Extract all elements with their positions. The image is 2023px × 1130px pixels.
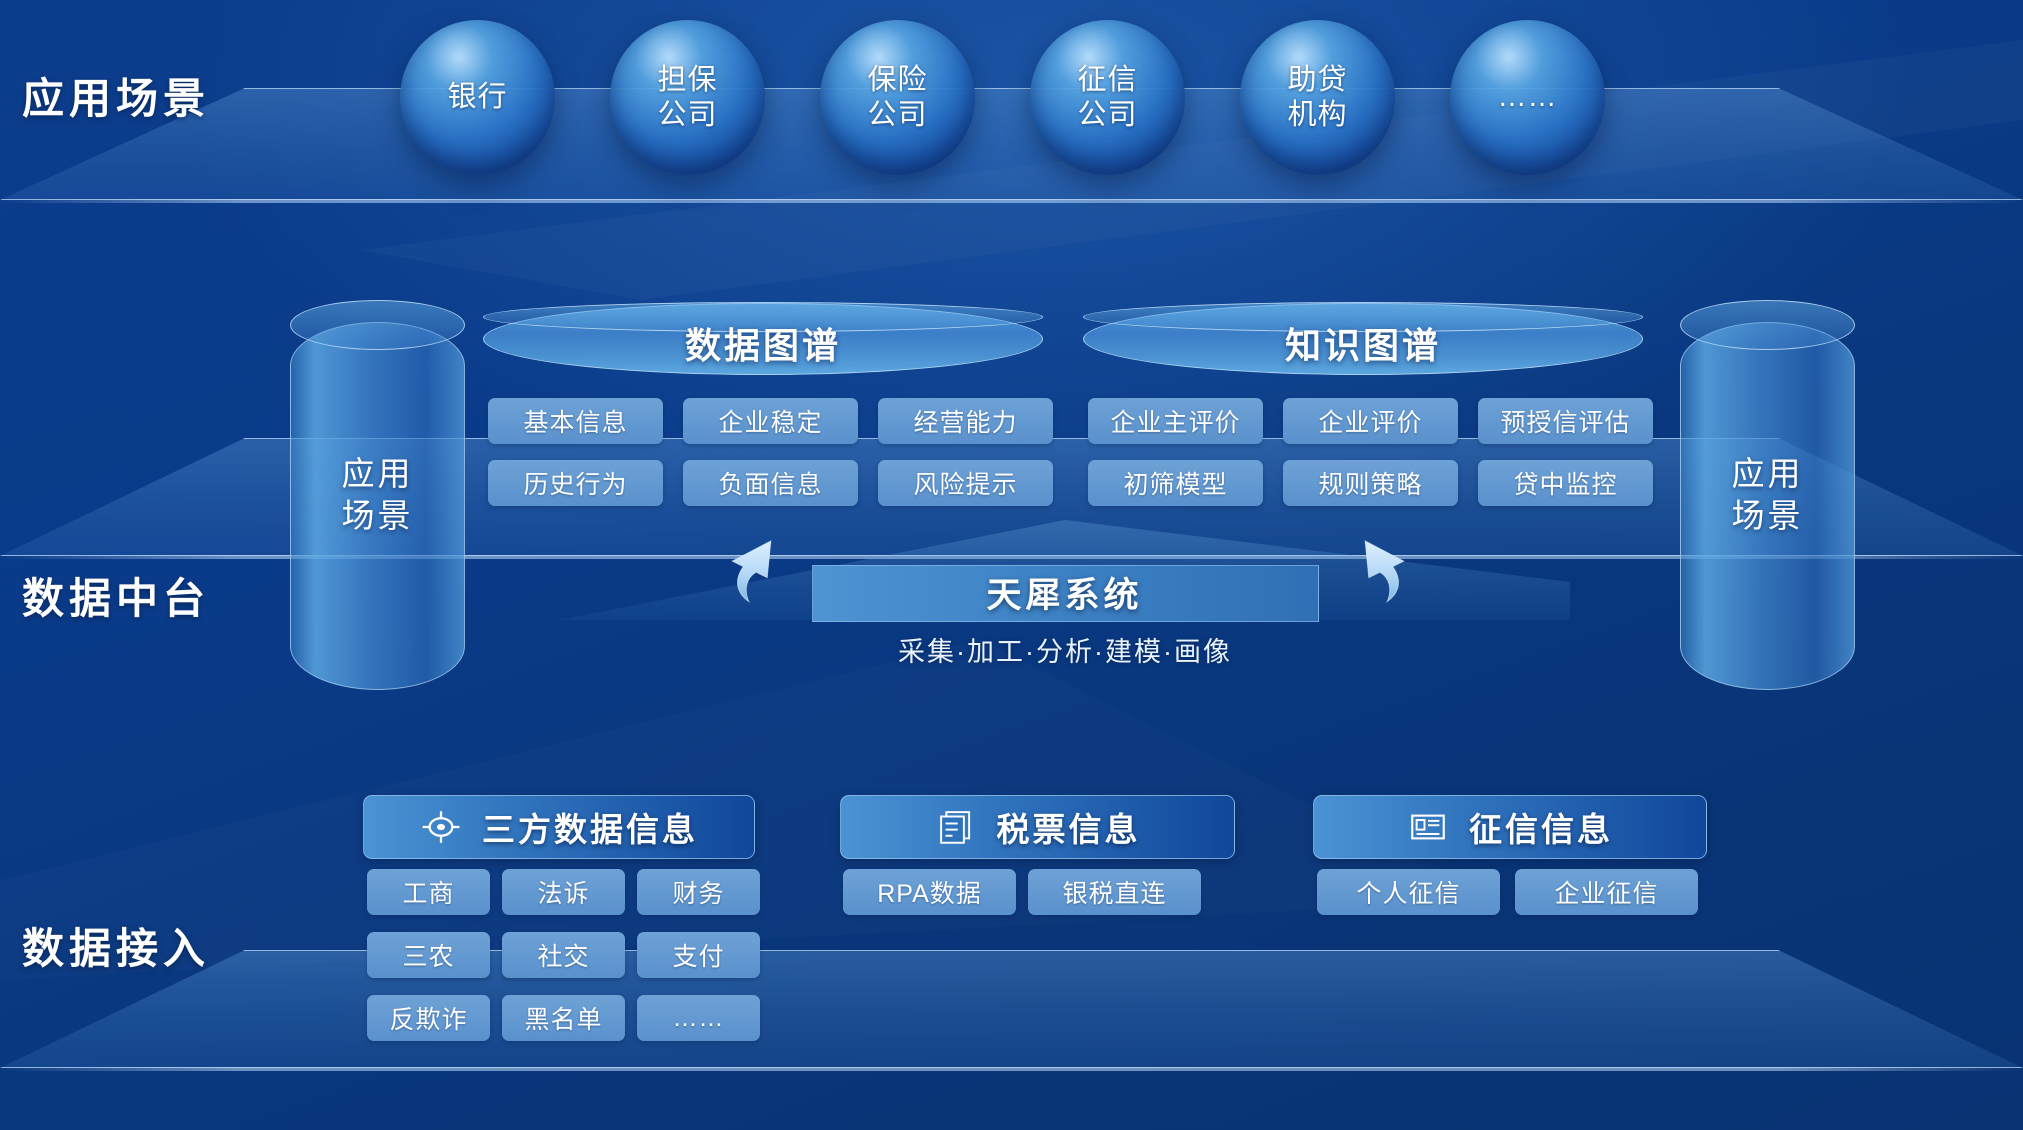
chip-knowledge-graph-3[interactable]: 初筛模型 bbox=[1088, 460, 1263, 506]
card-tax-invoice-data[interactable]: 税票信息 bbox=[840, 795, 1235, 859]
cylinder-cap bbox=[290, 300, 465, 350]
card-third-party-data[interactable]: 三方数据信息 bbox=[363, 795, 755, 859]
cylinder-label: 应用 场景 bbox=[1732, 453, 1804, 537]
sphere-bank[interactable]: 银行 bbox=[400, 20, 555, 175]
chip-credit-0[interactable]: 个人征信 bbox=[1317, 869, 1500, 915]
cylinder-label: 应用 场景 bbox=[342, 453, 414, 537]
chip-tax-1[interactable]: 银税直连 bbox=[1028, 869, 1201, 915]
disk-title: 知识图谱 bbox=[1083, 303, 1643, 375]
cylinder-cap bbox=[1680, 300, 1855, 350]
platform-edge bbox=[0, 88, 2023, 200]
chip-knowledge-graph-1[interactable]: 企业评价 bbox=[1283, 398, 1458, 444]
sphere-label: 银行 bbox=[447, 80, 507, 114]
chip-knowledge-graph-4[interactable]: 规则策略 bbox=[1283, 460, 1458, 506]
architecture-diagram: 应用场景 银行 担保 公司 保险 公司 征信 公司 助贷 机构 …… 数据中台 … bbox=[0, 0, 2023, 1130]
card-title: 税票信息 bbox=[997, 803, 1141, 851]
cylinder-application-scenario-right[interactable]: 应用 场景 bbox=[1680, 300, 1855, 690]
platform-band-top bbox=[0, 199, 2023, 203]
chip-credit-1[interactable]: 企业征信 bbox=[1515, 869, 1698, 915]
tier-label-application: 应用场景 bbox=[22, 78, 210, 120]
chip-data-graph-2[interactable]: 经营能力 bbox=[878, 398, 1053, 444]
platform-application bbox=[0, 88, 2023, 200]
sphere-label: …… bbox=[1498, 80, 1558, 114]
chip-third-party-8[interactable]: …… bbox=[637, 995, 760, 1041]
platform-edge bbox=[0, 950, 2023, 1068]
chip-third-party-0[interactable]: 工商 bbox=[367, 869, 490, 915]
sphere-more[interactable]: …… bbox=[1450, 20, 1605, 175]
crosshair-target-icon bbox=[420, 806, 462, 848]
chip-tax-0[interactable]: RPA数据 bbox=[843, 869, 1016, 915]
chip-third-party-7[interactable]: 黑名单 bbox=[502, 995, 625, 1041]
disk-knowledge-graph[interactable]: 知识图谱 bbox=[1083, 303, 1643, 375]
system-title: 天犀系统 bbox=[812, 565, 1317, 620]
chip-data-graph-5[interactable]: 风险提示 bbox=[878, 460, 1053, 506]
card-title: 征信信息 bbox=[1469, 803, 1613, 851]
chip-data-graph-3[interactable]: 历史行为 bbox=[488, 460, 663, 506]
chip-knowledge-graph-0[interactable]: 企业主评价 bbox=[1088, 398, 1263, 444]
platform-band-bot bbox=[0, 1067, 2023, 1071]
sphere-loan-assist-institution[interactable]: 助贷 机构 bbox=[1240, 20, 1395, 175]
sphere-label: 助贷 机构 bbox=[1287, 63, 1347, 131]
chip-knowledge-graph-2[interactable]: 预授信评估 bbox=[1478, 398, 1653, 444]
chip-data-graph-0[interactable]: 基本信息 bbox=[488, 398, 663, 444]
card-title: 三方数据信息 bbox=[482, 803, 698, 851]
chip-third-party-4[interactable]: 社交 bbox=[502, 932, 625, 978]
disk-data-graph[interactable]: 数据图谱 bbox=[483, 303, 1043, 375]
invoice-documents-icon bbox=[935, 806, 977, 848]
disk-title: 数据图谱 bbox=[483, 303, 1043, 375]
sphere-credit-company[interactable]: 征信 公司 bbox=[1030, 20, 1185, 175]
chip-third-party-3[interactable]: 三农 bbox=[367, 932, 490, 978]
tier-label-data-middle-platform: 数据中台 bbox=[22, 578, 210, 620]
chip-third-party-6[interactable]: 反欺诈 bbox=[367, 995, 490, 1041]
sphere-guarantee-company[interactable]: 担保 公司 bbox=[610, 20, 765, 175]
tier-label-data-access: 数据接入 bbox=[22, 928, 210, 970]
id-card-icon bbox=[1407, 806, 1449, 848]
sphere-label: 征信 公司 bbox=[1077, 63, 1137, 131]
chip-knowledge-graph-5[interactable]: 贷中监控 bbox=[1478, 460, 1653, 506]
chip-data-graph-1[interactable]: 企业稳定 bbox=[683, 398, 858, 444]
chip-data-graph-4[interactable]: 负面信息 bbox=[683, 460, 858, 506]
cylinder-application-scenario-left[interactable]: 应用 场景 bbox=[290, 300, 465, 690]
chip-third-party-2[interactable]: 财务 bbox=[637, 869, 760, 915]
platform-data-access bbox=[0, 950, 2023, 1068]
card-credit-report-data[interactable]: 征信信息 bbox=[1313, 795, 1707, 859]
system-subtitle: 采集·加工·分析·建模·画像 bbox=[560, 630, 1570, 669]
arrow-up-right-icon bbox=[1332, 528, 1424, 620]
sphere-label: 担保 公司 bbox=[657, 63, 717, 131]
arrow-up-left-icon bbox=[712, 528, 804, 620]
chip-third-party-5[interactable]: 支付 bbox=[637, 932, 760, 978]
sphere-label: 保险 公司 bbox=[867, 63, 927, 131]
chip-third-party-1[interactable]: 法诉 bbox=[502, 869, 625, 915]
sphere-insurance-company[interactable]: 保险 公司 bbox=[820, 20, 975, 175]
